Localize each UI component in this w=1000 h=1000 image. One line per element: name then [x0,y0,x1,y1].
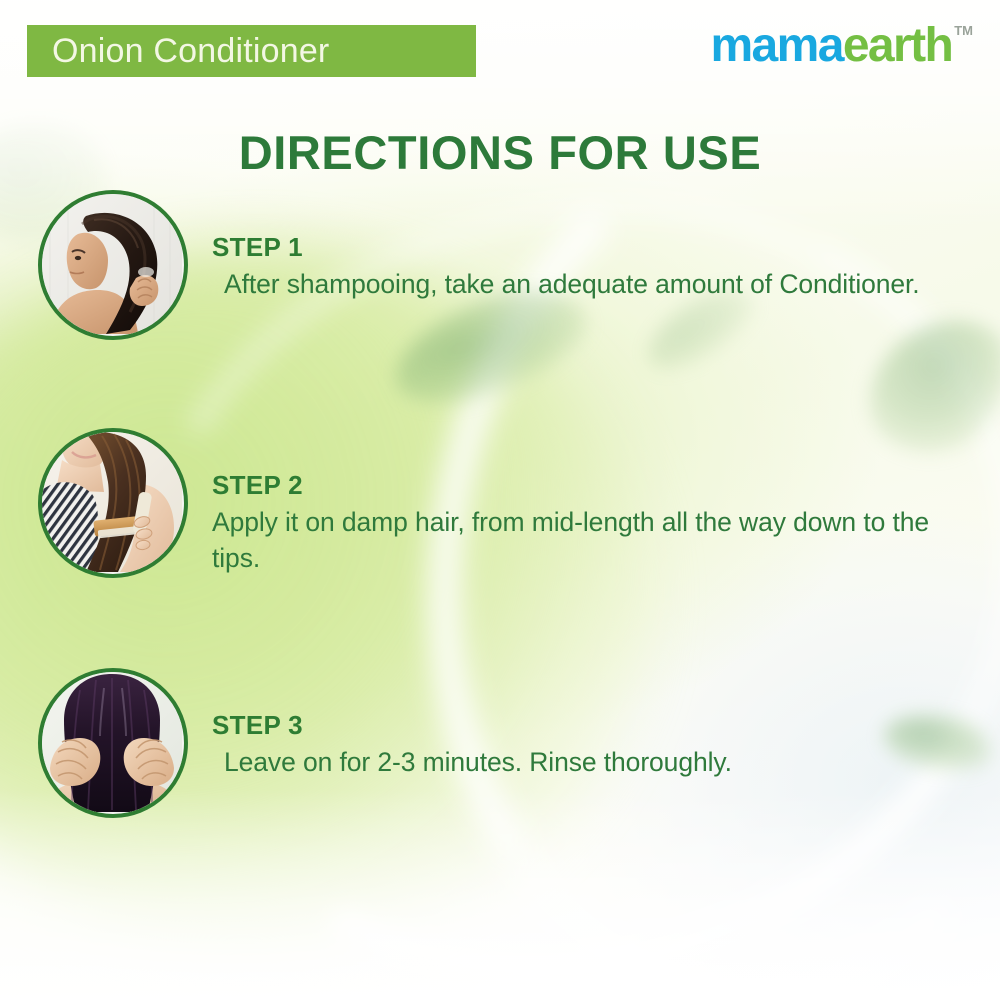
step-2-photo-circle [38,428,188,578]
hands-massaging-hair-illustration [42,672,182,812]
step-2-description: Apply it on damp hair, from mid-length a… [212,505,957,576]
page-title: DIRECTIONS FOR USE [0,125,1000,180]
step-3-description: Leave on for 2-3 minutes. Rinse thorough… [212,745,969,781]
step-item: STEP 3 Leave on for 2-3 minutes. Rinse t… [0,668,1000,868]
woman-brushing-hair-illustration [42,432,182,572]
step-item: STEP 1 After shampooing, take an adequat… [0,190,1000,390]
brand-logo-earth-text: earth [843,22,952,70]
step-1-label: STEP 1 [212,232,972,263]
step-1-description: After shampooing, take an adequate amoun… [212,267,969,303]
product-name-label: Onion Conditioner [27,32,329,71]
step-3-label: STEP 3 [212,710,972,741]
product-name-badge: Onion Conditioner [27,25,476,77]
brand-logo: mama earth TM [710,22,973,70]
product-directions-poster: Onion Conditioner mama earth TM DIRECTIO… [0,0,1000,1000]
step-item: STEP 2 Apply it on damp hair, from mid-l… [0,428,1000,628]
step-1-photo [42,194,184,336]
step-1-photo-circle [38,190,188,340]
step-2-text-block: STEP 2 Apply it on damp hair, from mid-l… [212,428,972,576]
brand-logo-mama-text: mama [710,22,842,70]
step-2-photo [42,432,184,574]
step-2-label: STEP 2 [212,470,972,501]
step-3-photo [42,672,184,814]
step-1-text-block: STEP 1 After shampooing, take an adequat… [212,190,972,303]
woman-applying-conditioner-illustration [42,194,182,334]
step-3-photo-circle [38,668,188,818]
step-3-text-block: STEP 3 Leave on for 2-3 minutes. Rinse t… [212,668,972,781]
trademark-icon: TM [954,24,973,37]
